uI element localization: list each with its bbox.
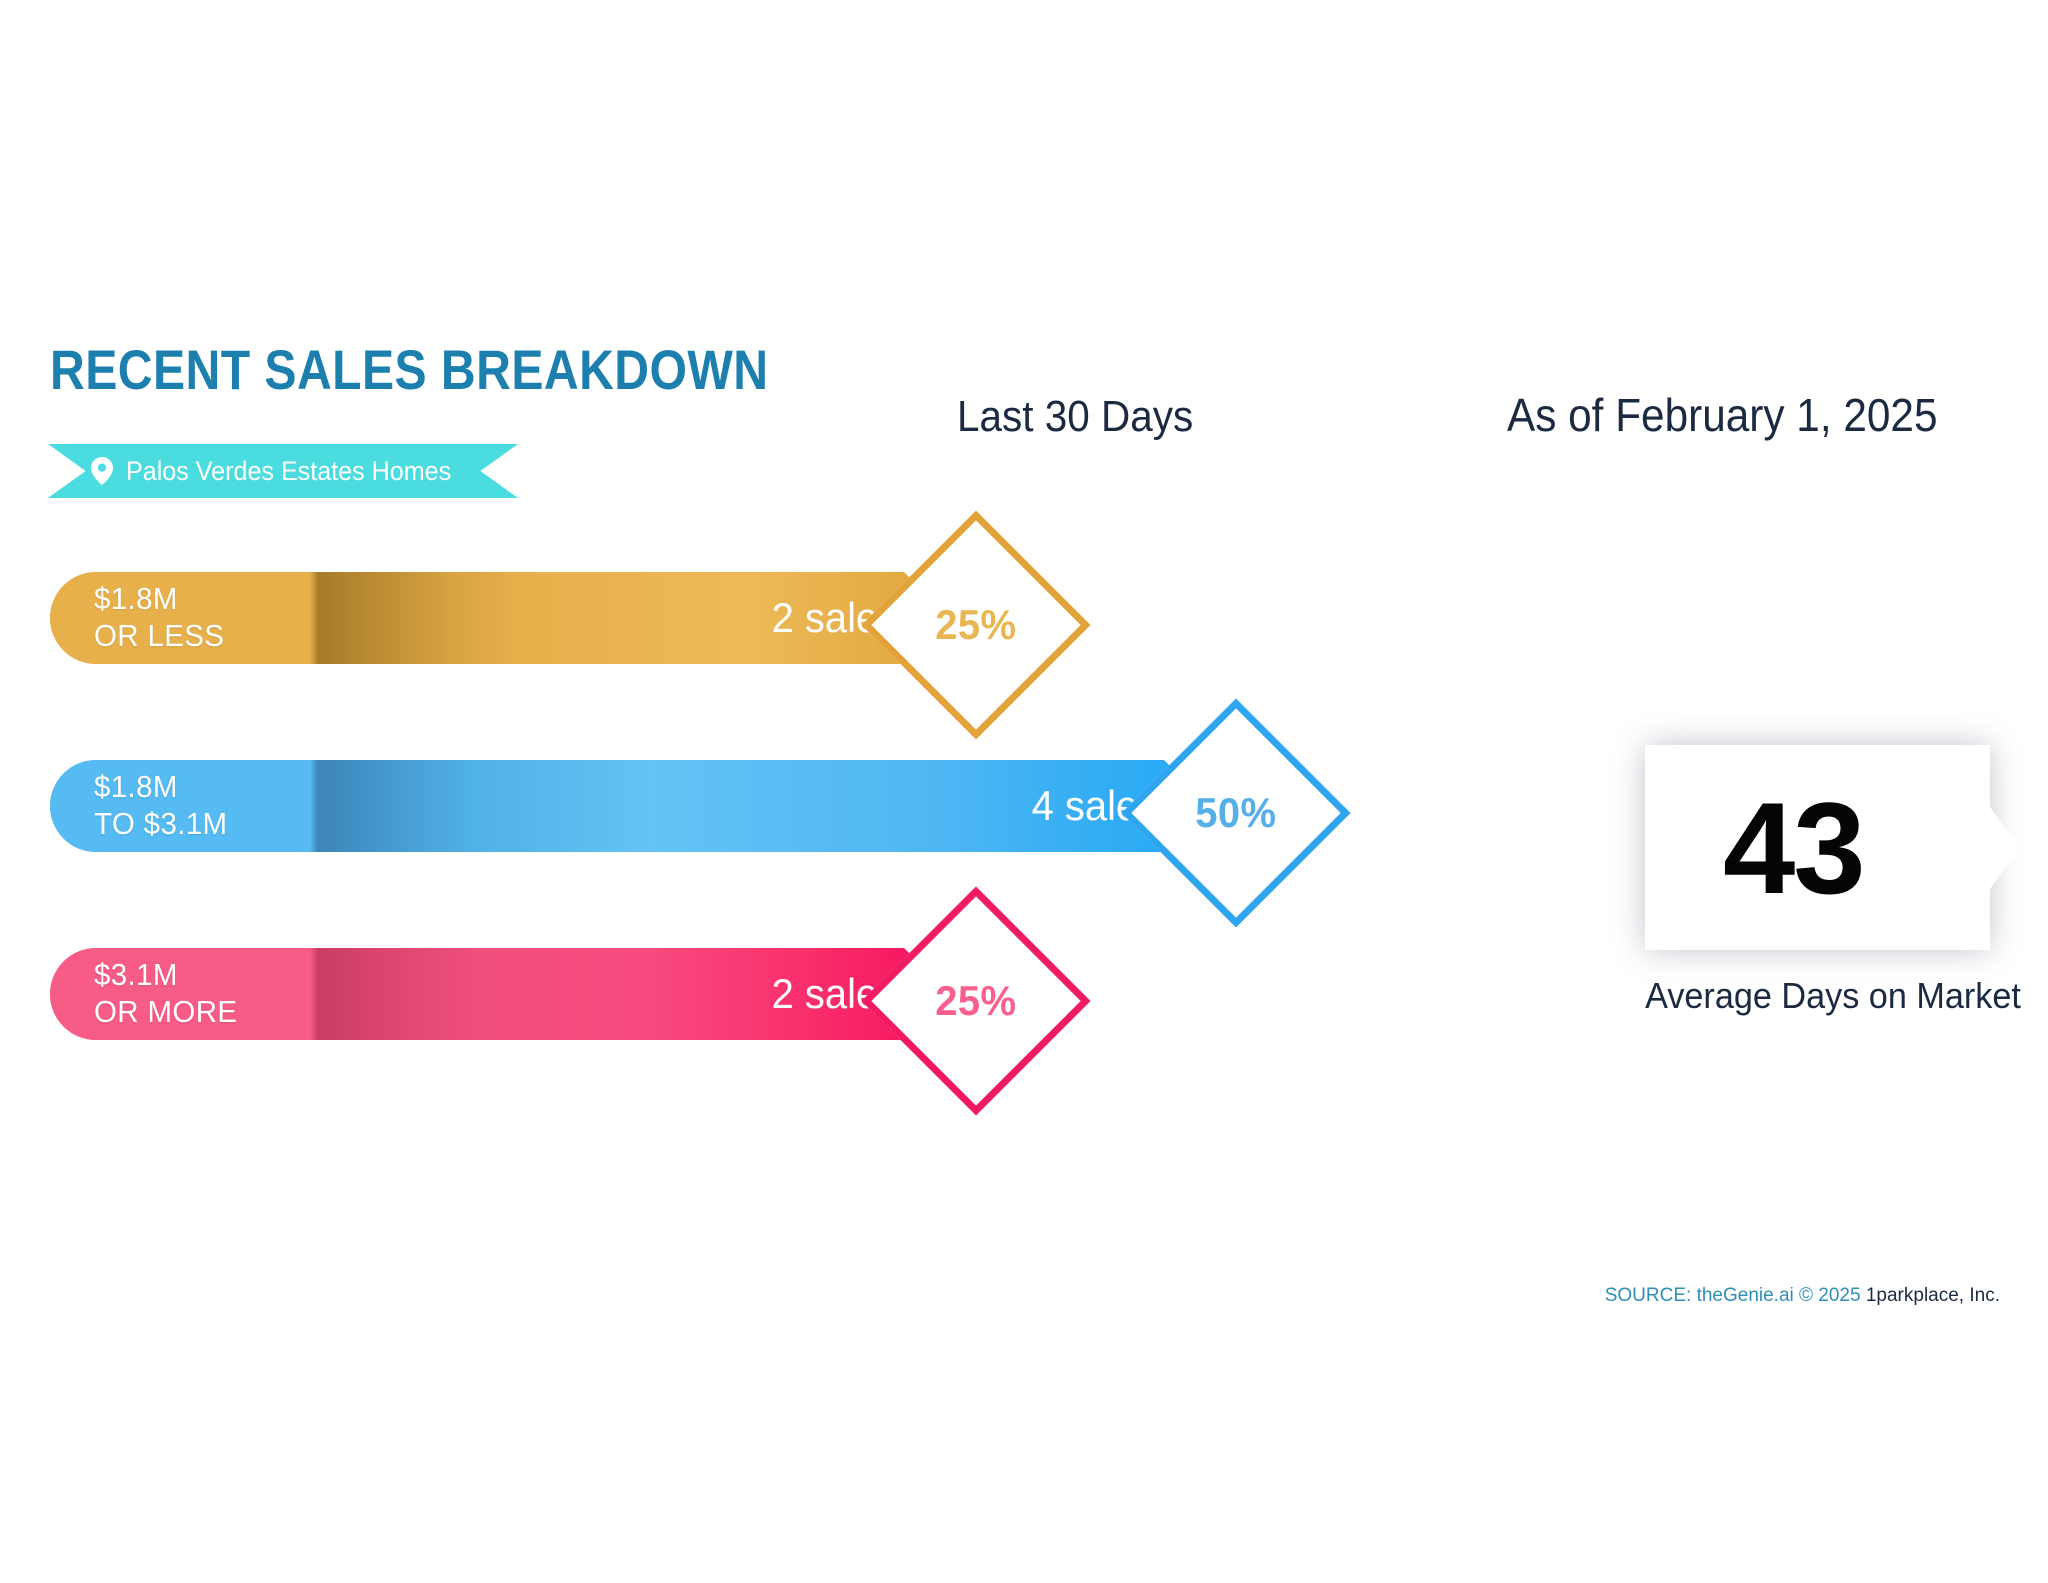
percent-value-blue: 50% <box>1195 789 1276 837</box>
bar-track-pink: $3.1M OR MORE 2 sales <box>50 948 950 1040</box>
bar-track-gold: $1.8M OR LESS 2 sales <box>50 572 950 664</box>
owner-text: 1parkplace, Inc. <box>1866 1285 2000 1306</box>
location-badge-label: Palos Verdes Estates Homes <box>126 456 451 487</box>
percent-value-gold: 25% <box>935 601 1016 649</box>
source-footer: SOURCE: theGenie.ai © 2025 1parkplace, I… <box>1605 1285 2000 1307</box>
percent-diamond-pink: 25% <box>861 886 1090 1115</box>
map-pin-icon <box>91 457 113 485</box>
as-of-date-label: As of February 1, 2025 <box>1507 388 1938 442</box>
page-title: RECENT SALES BREAKDOWN <box>50 337 769 402</box>
percent-diamond-blue: 50% <box>1121 698 1350 927</box>
bar-price-range-label-pink: $3.1M OR MORE <box>94 957 245 1030</box>
bar-price-range-label-gold: $1.8M OR LESS <box>94 581 231 654</box>
percent-value-pink: 25% <box>935 977 1016 1025</box>
period-label: Last 30 Days <box>957 392 1193 442</box>
days-on-market-caption: Average Days on Market <box>1634 975 2033 1017</box>
card-body: 43 <box>1645 745 2020 950</box>
days-on-market-value: 43 <box>1723 783 1864 913</box>
days-on-market-card: 43 <box>1645 745 2020 950</box>
source-text: SOURCE: theGenie.ai © 2025 <box>1605 1285 1861 1306</box>
percent-diamond-gold: 25% <box>861 510 1090 739</box>
location-badge: Palos Verdes Estates Homes <box>48 444 518 498</box>
bar-track-blue: $1.8M TO $3.1M 4 sales <box>50 760 1210 852</box>
bar-price-range-label-blue: $1.8M TO $3.1M <box>94 769 234 842</box>
